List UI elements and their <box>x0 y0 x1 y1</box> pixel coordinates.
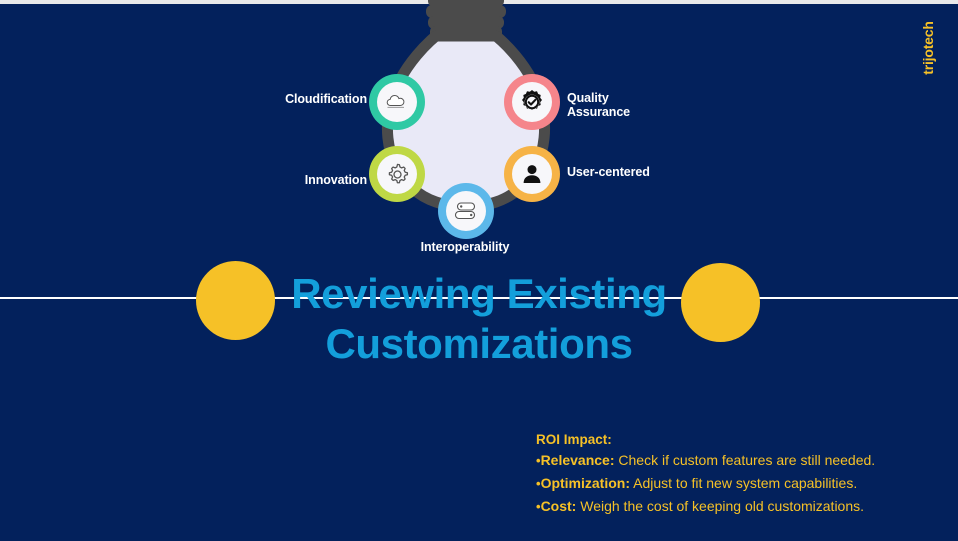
roi-item-relevance: •Relevance: Check if custom features are… <box>536 449 948 472</box>
roi-heading: ROI Impact: <box>536 430 948 449</box>
gear-icon <box>377 154 417 194</box>
node-quality-assurance[interactable] <box>504 74 560 130</box>
node-interoperability[interactable] <box>438 183 494 239</box>
roi-desc: Adjust to fit new system capabilities. <box>633 475 857 491</box>
node-cloudification[interactable] <box>369 74 425 130</box>
label-quality-line2: Assurance <box>567 106 677 120</box>
label-user-centered: User-centered <box>567 166 677 180</box>
label-quality-assurance: Quality Assurance <box>567 92 677 119</box>
roi-impact-block: ROI Impact: •Relevance: Check if custom … <box>536 430 948 518</box>
roi-desc: Check if custom features are still neede… <box>618 452 875 468</box>
label-innovation: Innovation <box>274 174 367 188</box>
database-stack-icon <box>446 191 486 231</box>
roi-term: Optimization: <box>541 475 630 491</box>
brand-logo-text: trijotech <box>920 6 936 90</box>
person-icon <box>512 154 552 194</box>
roi-term: Relevance: <box>541 452 615 468</box>
roi-term: Cost: <box>541 498 577 514</box>
cloud-icon <box>377 82 417 122</box>
node-innovation[interactable] <box>369 146 425 202</box>
roi-item-optimization: •Optimization: Adjust to fit new system … <box>536 472 948 495</box>
slide-title: Reviewing Existing Customizations <box>186 269 772 369</box>
node-user-centered[interactable] <box>504 146 560 202</box>
label-quality-line1: Quality <box>567 92 677 106</box>
roi-item-cost: •Cost: Weigh the cost of keeping old cus… <box>536 495 948 518</box>
verified-badge-icon <box>512 82 552 122</box>
roi-desc: Weigh the cost of keeping old customizat… <box>580 498 864 514</box>
label-interoperability: Interoperability <box>400 241 530 255</box>
label-cloudification: Cloudification <box>275 93 367 107</box>
slide-canvas: Cloudification Quality Assurance Innovat… <box>0 0 958 541</box>
brand-logo: trijotech <box>916 8 940 92</box>
